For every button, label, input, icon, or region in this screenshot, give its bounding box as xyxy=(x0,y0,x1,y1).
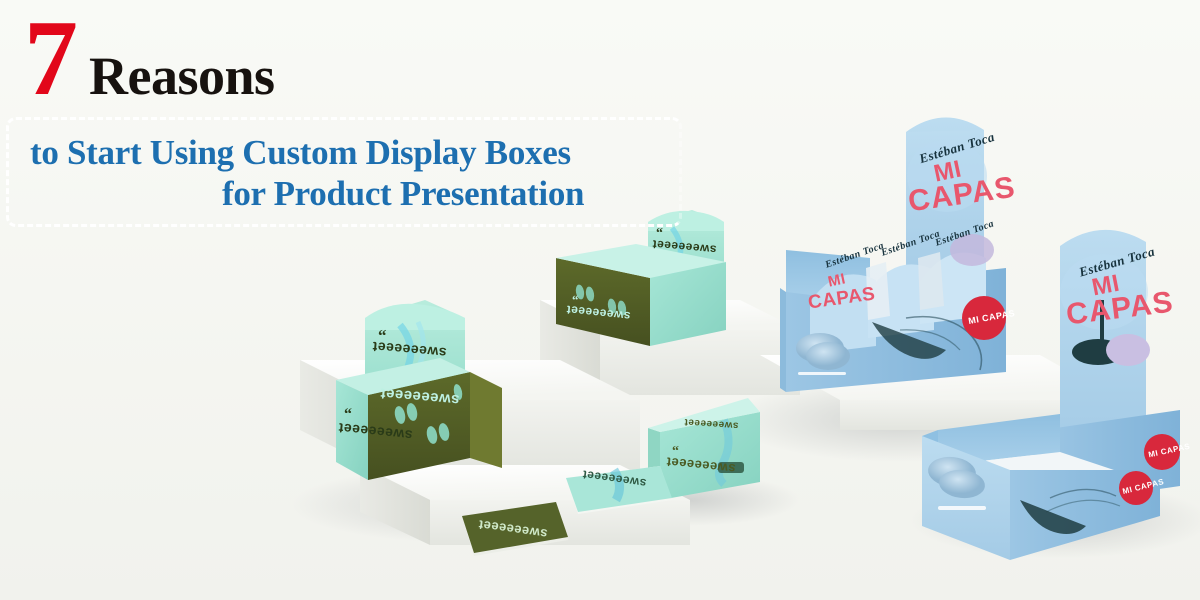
banner-canvas: “ sweeeeeet “ sweeeeeet sweeeeeet “ swee… xyxy=(0,0,1200,600)
headline-block: 7 Reasons to Start Using Custom Display … xyxy=(0,0,720,240)
reasons-word: Reasons xyxy=(89,45,275,107)
title-row: 7 Reasons xyxy=(24,8,275,111)
reason-count-number: 7 xyxy=(24,8,75,111)
headline-subtitle-line-1: to Start Using Custom Display Boxes xyxy=(30,133,571,173)
headline-subtitle-line-2: for Product Presentation xyxy=(222,174,584,214)
